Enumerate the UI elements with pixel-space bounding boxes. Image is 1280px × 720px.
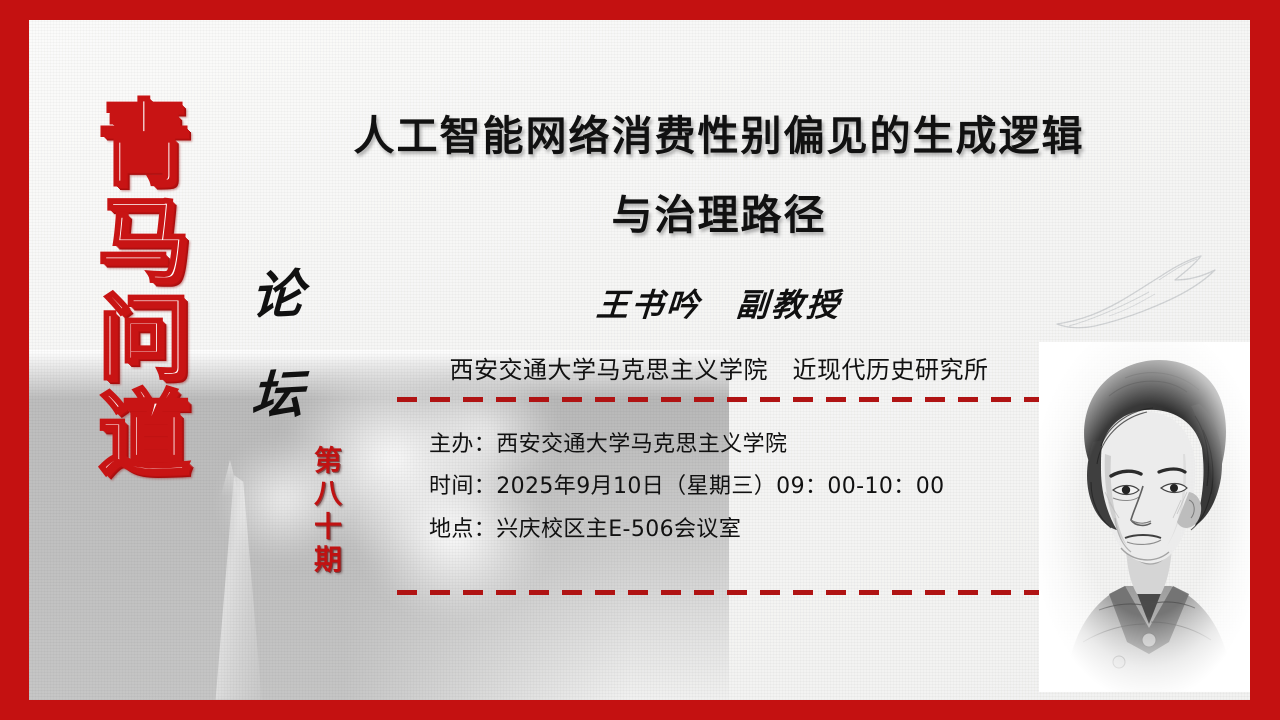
brand-vertical-title: 青 马 问 道 <box>84 98 204 483</box>
frame-border-bottom <box>0 700 1280 720</box>
brand-char: 道 <box>98 388 190 483</box>
dashed-divider-bottom <box>397 590 1039 595</box>
forum-char: 坛 <box>250 369 304 424</box>
title-line-1: 人工智能网络消费性别偏见的生成逻辑 <box>229 116 1209 157</box>
event-details: 主办：西安交通大学马克思主义学院 时间：2025年9月10日（星期三）09：00… <box>429 432 945 542</box>
dashed-divider-top <box>397 397 1039 402</box>
issue-char: 十 <box>314 510 342 543</box>
speaker-name: 王书吟 副教授 <box>357 280 1080 326</box>
page-title: 人工智能网络消费性别偏见的生成逻辑 与治理路径 <box>229 116 1209 236</box>
detail-organizer: 主办：西安交通大学马克思主义学院 <box>429 432 945 457</box>
brand-char: 青 <box>98 98 190 193</box>
speaker-affiliation: 西安交通大学马克思主义学院 近现代历史研究所 <box>359 350 1079 385</box>
portrait-karl-marx <box>1039 342 1250 692</box>
forum-vertical-label: 论 坛 <box>237 270 317 422</box>
brand-char: 问 <box>98 292 190 387</box>
detail-time: 时间：2025年9月10日（星期三）09：00-10：00 <box>429 474 945 499</box>
frame-border-left <box>0 0 29 720</box>
issue-char: 八 <box>314 477 342 510</box>
detail-location: 地点：兴庆校区主E-506会议室 <box>429 517 945 542</box>
issue-number-vertical: 第 八 十 期 <box>314 444 342 576</box>
poster-canvas: 青 马 问 道 论 坛 第 八 十 期 人工智能网络消费性别偏见的生成逻辑 与治… <box>29 20 1250 700</box>
title-line-2: 与治理路径 <box>229 195 1209 236</box>
frame-border-top <box>0 0 1280 20</box>
frame-border-right <box>1250 0 1280 720</box>
brand-char: 马 <box>98 195 190 290</box>
issue-char: 期 <box>314 543 342 576</box>
issue-char: 第 <box>314 444 342 477</box>
poster-root: 青 马 问 道 论 坛 第 八 十 期 人工智能网络消费性别偏见的生成逻辑 与治… <box>0 0 1280 720</box>
forum-char: 论 <box>250 269 304 324</box>
